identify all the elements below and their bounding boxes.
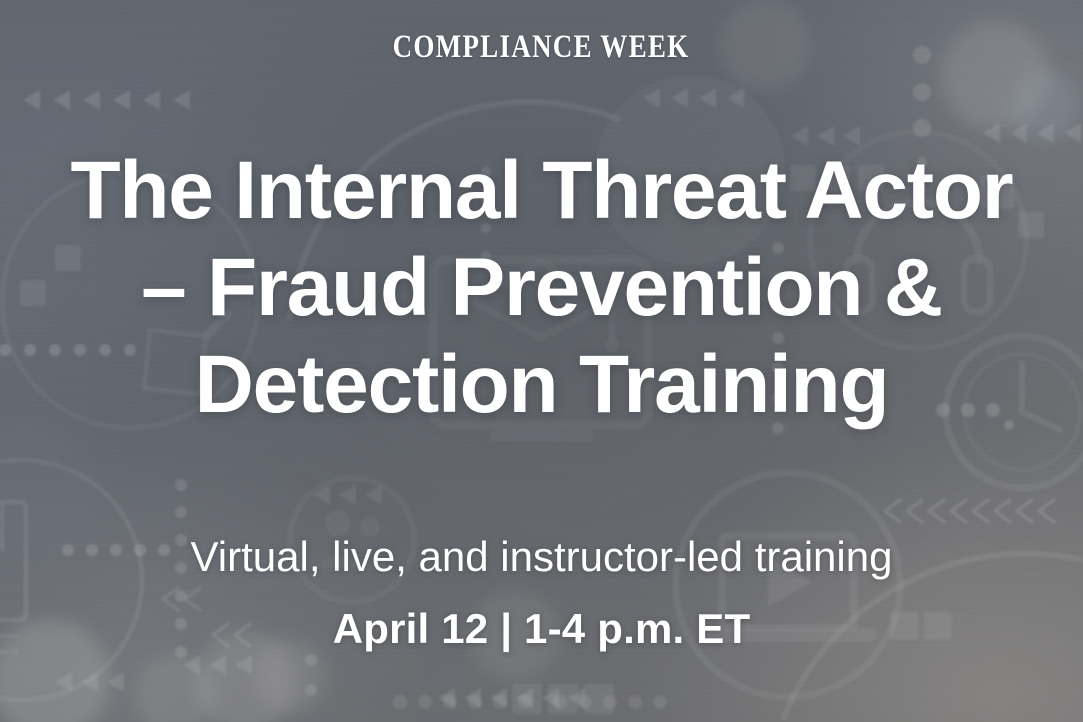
title-line-3: Detection Training [12,336,1072,433]
title-line-2: – Fraud Prevention & [12,239,1072,336]
brand-logo: COMPLIANCE WEEK [393,29,690,66]
title-line-1: The Internal Threat Actor [12,142,1072,239]
subtitle: Virtual, live, and instructor-led traini… [191,532,893,582]
banner-content: COMPLIANCE WEEK The Internal Threat Acto… [0,0,1083,722]
page-title: The Internal Threat Actor – Fraud Preven… [12,142,1072,433]
promo-banner: COMPLIANCE WEEK The Internal Threat Acto… [0,0,1083,722]
event-dateline: April 12 | 1-4 p.m. ET [333,604,751,654]
